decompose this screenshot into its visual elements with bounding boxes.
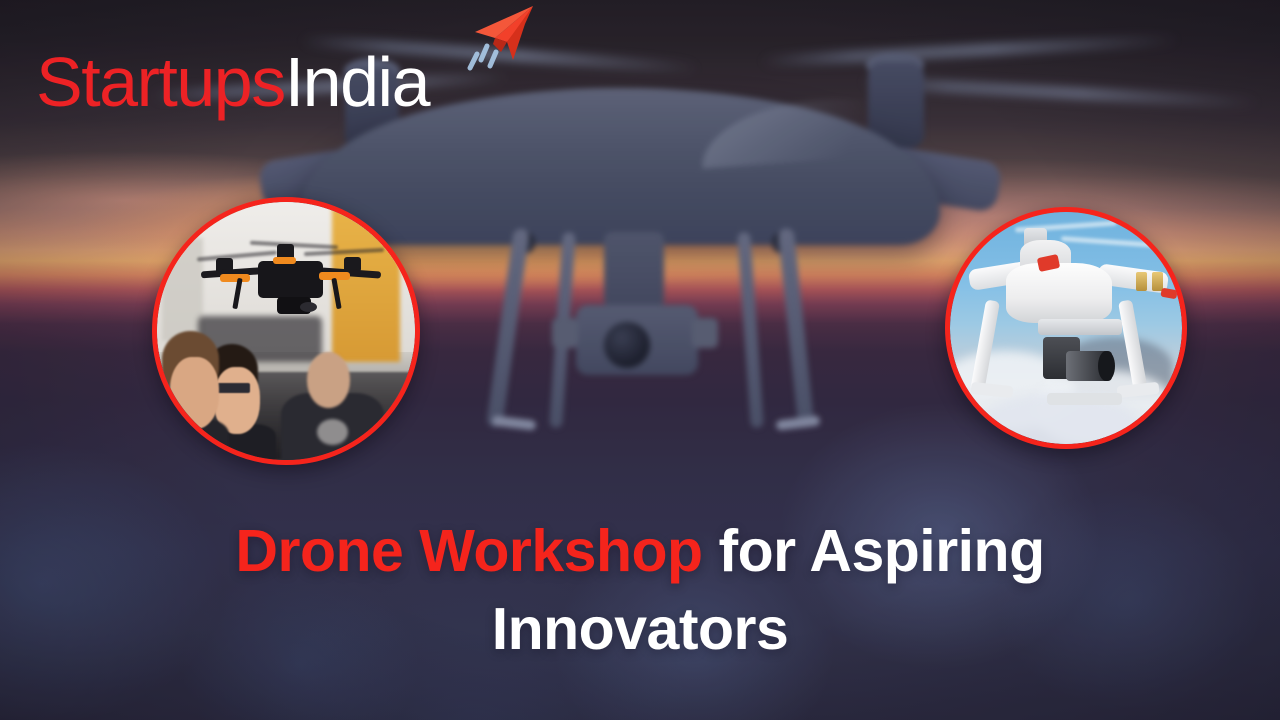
paper-plane-icon <box>455 2 535 80</box>
landing-foot <box>970 382 1013 398</box>
circle-photo-workshop-image <box>157 202 415 460</box>
headline-highlight: Drone Workshop <box>235 518 702 584</box>
headline-line-1: Drone Workshop for Aspiring <box>0 512 1280 590</box>
brand-logo[interactable]: StartupsIndia <box>36 46 429 118</box>
propeller-blur-icon <box>250 240 338 249</box>
circle-photo-phantom-drone-image <box>950 212 1182 444</box>
propeller-blur-icon <box>304 248 384 256</box>
white-phantom-drone <box>950 212 1182 444</box>
page-title: Drone Workshop for Aspiring Innovators <box>0 512 1280 668</box>
landing-crossbar <box>1047 393 1121 405</box>
landing-leg <box>1118 300 1148 394</box>
attendee-front-face <box>170 357 219 429</box>
circle-photo-phantom-drone[interactable] <box>945 207 1187 449</box>
camera-lens-icon <box>300 302 317 312</box>
orange-accent <box>220 274 251 282</box>
circle-photo-workshop[interactable] <box>152 197 420 465</box>
drone-body <box>258 261 323 298</box>
landing-leg <box>332 278 342 309</box>
logo-text-india: India <box>285 46 429 118</box>
attendee-back-head <box>307 352 351 409</box>
eyeglasses-icon <box>214 383 250 393</box>
headline-line-2: Innovators <box>0 590 1280 668</box>
gold-antenna-band <box>1136 272 1148 291</box>
red-accent <box>1160 287 1178 299</box>
logo-text-startups: Startups <box>36 46 285 118</box>
headline-line-1-rest: for Aspiring <box>703 518 1045 584</box>
orange-black-drone <box>193 238 384 315</box>
propeller-blur-icon <box>197 250 277 261</box>
camera-lens-icon <box>1098 351 1114 381</box>
landing-leg <box>232 278 242 309</box>
promo-banner: StartupsIndia <box>0 0 1280 720</box>
landing-foot <box>1117 382 1160 398</box>
shirt-graphic <box>317 419 348 445</box>
gimbal-mount-plate <box>1038 319 1122 335</box>
propeller-blur-icon <box>1061 236 1172 249</box>
drone-body <box>1006 263 1113 323</box>
landing-leg <box>970 300 1000 394</box>
orange-accent <box>273 257 296 264</box>
